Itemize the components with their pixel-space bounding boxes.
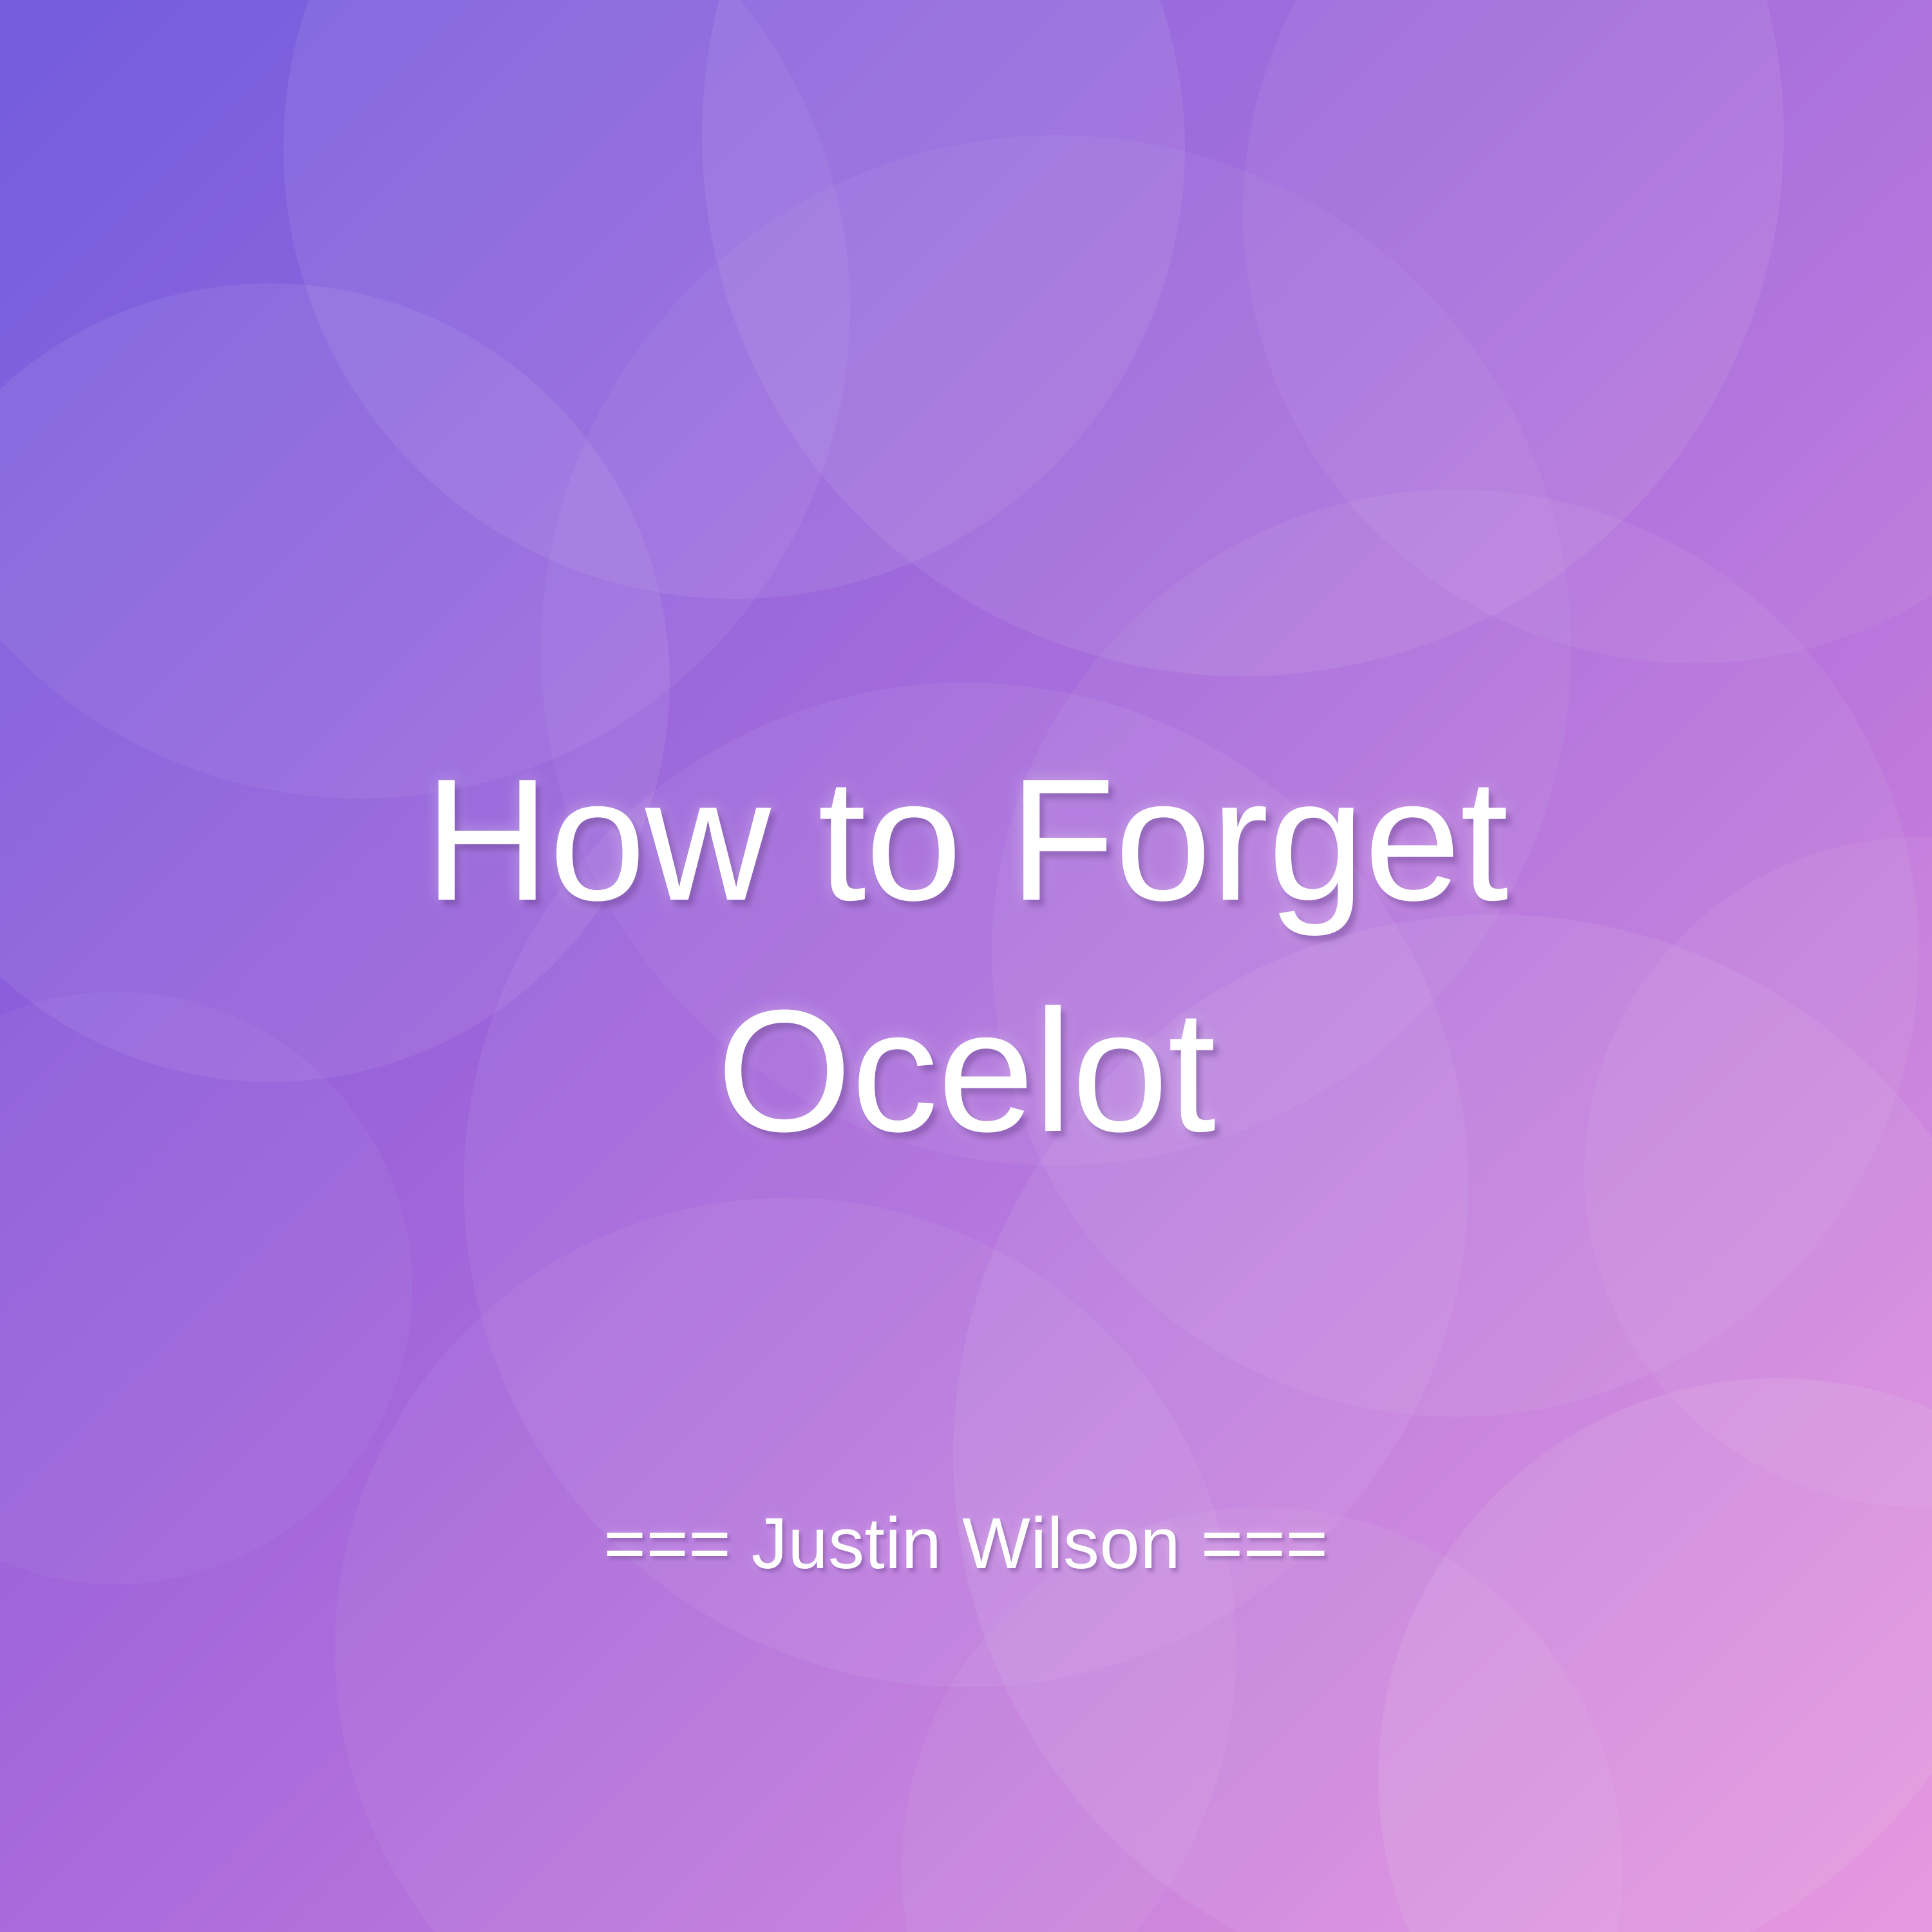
title-card-slide: How to Forget Ocelot === Justin Wilson =…: [0, 0, 1932, 1932]
title-line-2: Ocelot: [129, 956, 1803, 1187]
author-byline: === Justin Wilson ===: [0, 1501, 1932, 1587]
text-layer: How to Forget Ocelot === Justin Wilson =…: [0, 0, 1932, 1932]
slide-author: === Justin Wilson ===: [0, 1501, 1932, 1587]
slide-title: How to Forget Ocelot: [0, 724, 1932, 1187]
title-line-1: How to Forget: [129, 724, 1803, 956]
